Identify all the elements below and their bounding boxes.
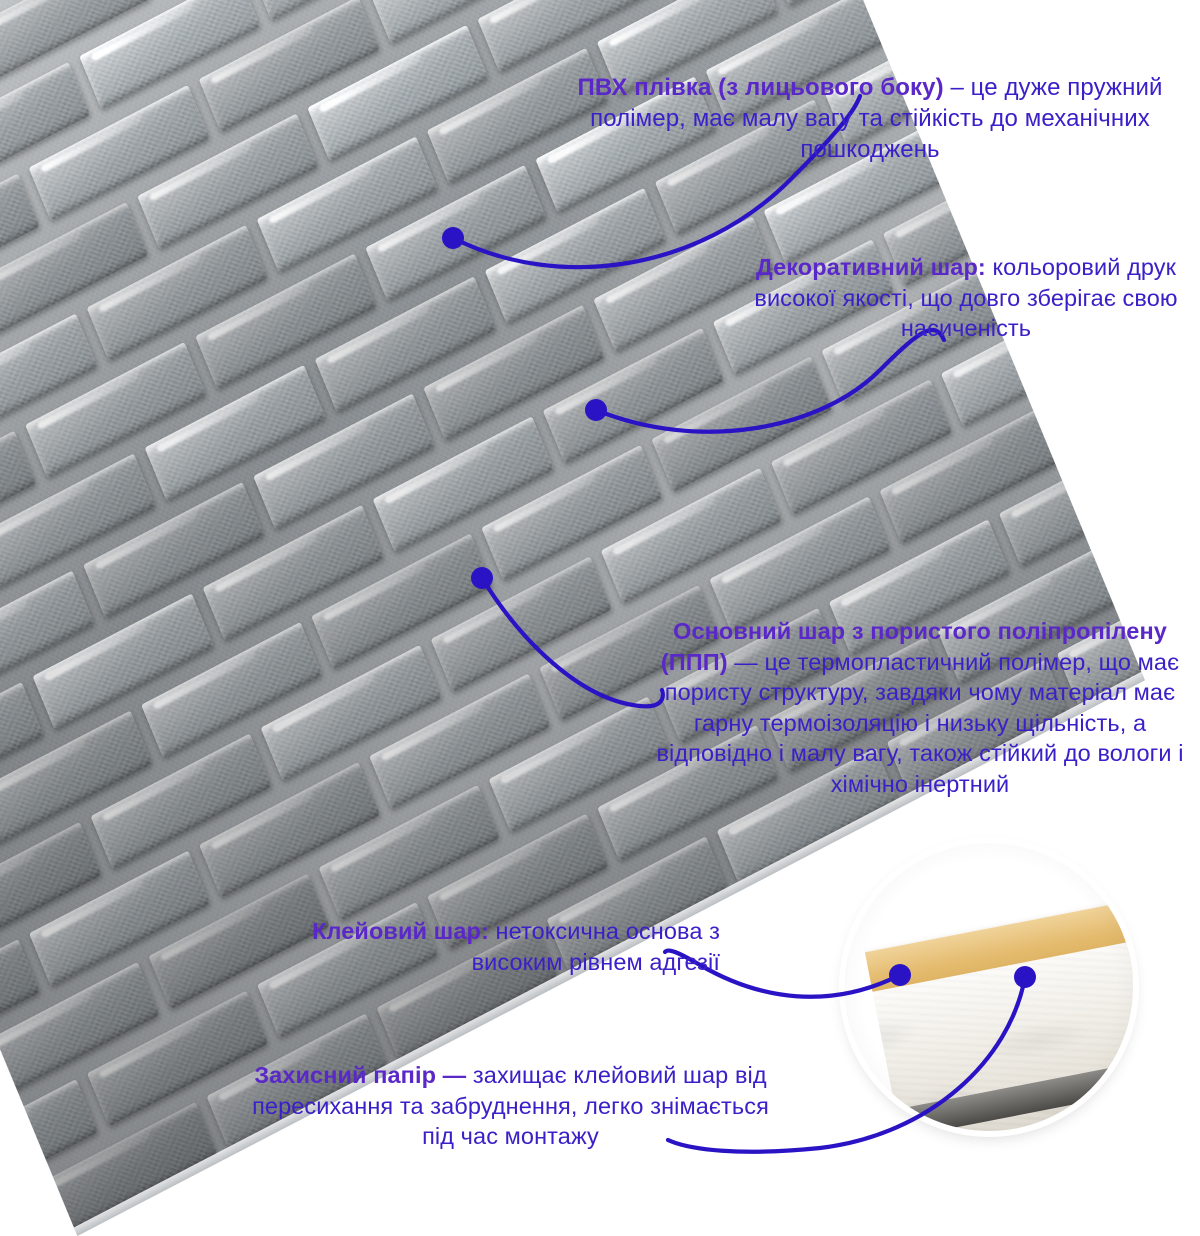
callout-text-pvc-film: ПВХ плівка (з лицьового боку) – це дуже … xyxy=(560,72,1180,166)
brick-tile xyxy=(995,0,1145,58)
brick-tile xyxy=(876,0,1057,35)
callout-body-core: — це термопластичний полімер, що має пор… xyxy=(656,649,1183,797)
callout-text-decorative: Декоративний шар: кольоровий друк високо… xyxy=(752,252,1180,344)
infographic-canvas: ПВХ плівка (з лицьового боку) – це дуже … xyxy=(0,0,1200,1200)
callout-title-decorative: Декоративний шар: xyxy=(756,254,986,280)
photo-vignette xyxy=(845,843,1133,1131)
callout-body-adhesive: нетоксична основа з високим рівнем адгез… xyxy=(472,918,720,975)
callout-title-adhesive: Клейовий шар: xyxy=(312,918,489,944)
callout-text-paper: Захисний папір — захищає клейовий шар ві… xyxy=(248,1060,773,1152)
callout-text-adhesive: Клейовий шар: нетоксична основа з високи… xyxy=(300,916,720,977)
brick-tile xyxy=(0,1191,47,1236)
brick-tile xyxy=(1108,459,1145,595)
adhesive-corner-closeup-photo xyxy=(845,843,1133,1131)
callout-title-pvc-film: ПВХ плівка (з лицьового боку) xyxy=(578,74,944,101)
callout-text-core: Основний шар з пористого поліпропілену (… xyxy=(650,616,1190,799)
photo-content xyxy=(845,843,1133,1131)
callout-title-paper: Захисний папір — xyxy=(254,1062,466,1088)
